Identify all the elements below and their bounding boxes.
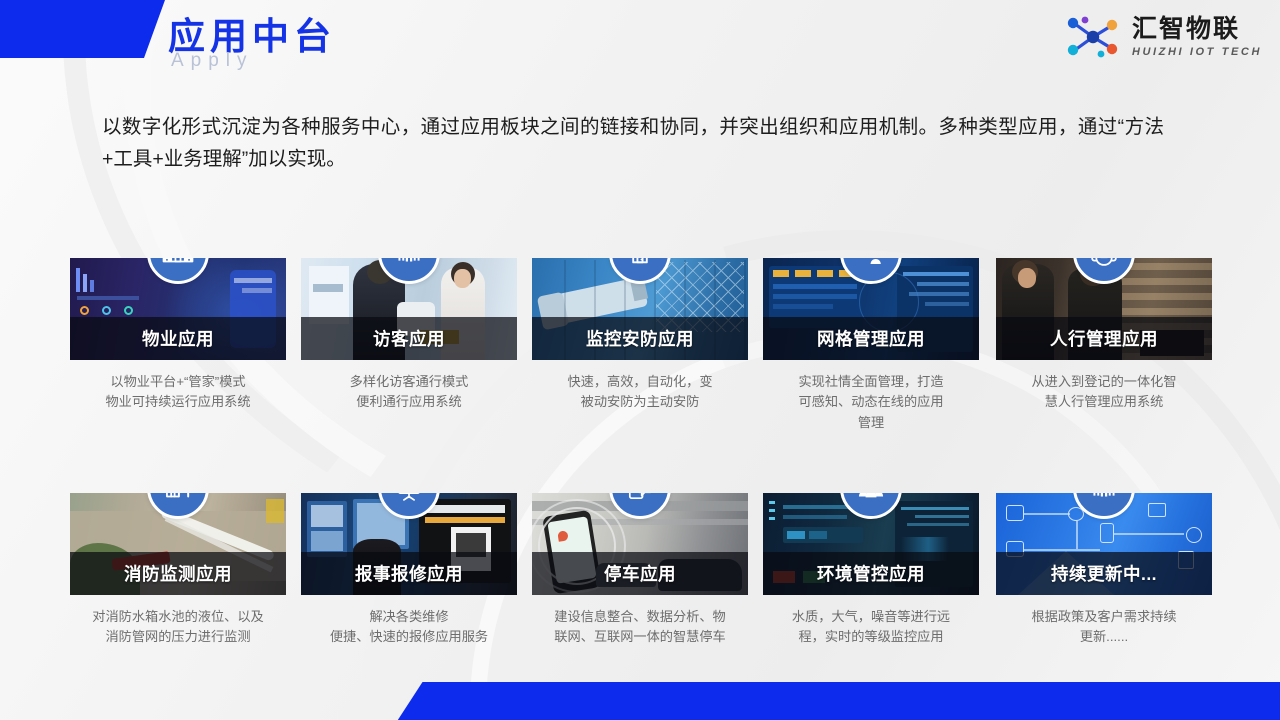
card-visual: 监控安防应用 — [532, 258, 748, 360]
card-title-band: 访客应用 — [301, 317, 517, 360]
card-description: 从进入到登记的一体化智 慧人行管理应用系统 — [996, 372, 1212, 413]
header-accent-bar — [0, 0, 165, 58]
card-visual: 访客应用 — [301, 258, 517, 360]
card-title: 环境管控应用 — [817, 561, 925, 586]
card-description: 对消防水箱水池的液位、以及 消防管网的压力进行监测 — [70, 607, 286, 648]
app-card-parking[interactable]: 停车应用 建设信息整合、数据分析、物 联网、互联网一体的智慧停车 — [532, 493, 748, 648]
card-description: 多样化访客通行模式 便利通行应用系统 — [301, 372, 517, 413]
card-title-band: 环境管控应用 — [763, 552, 979, 595]
brand-logo: 汇智物联 HUIZHI IOT TECH — [1063, 14, 1262, 60]
page-subtitle: Apply — [171, 50, 254, 72]
app-card-environment-control[interactable]: 环境管控应用 水质，大气，噪音等进行远 程，实时的等级监控应用 — [763, 493, 979, 648]
brand-name-en: HUIZHI IOT TECH — [1132, 47, 1262, 58]
brand-name-cn: 汇智物联 — [1132, 17, 1262, 42]
card-visual: 物业应用 — [70, 258, 286, 360]
card-title-band: 报事报修应用 — [301, 552, 517, 595]
app-card-pedestrian-management[interactable]: 人行管理应用 从进入到登记的一体化智 慧人行管理应用系统 — [996, 258, 1212, 413]
card-title: 网格管理应用 — [817, 326, 925, 351]
app-card-repair-request[interactable]: 报事报修应用 解决各类维修 便捷、快速的报修应用服务 — [301, 493, 517, 648]
card-title-band: 持续更新中... — [996, 552, 1212, 595]
card-description: 建设信息整合、数据分析、物 联网、互联网一体的智慧停车 — [532, 607, 748, 648]
card-title: 消防监测应用 — [124, 561, 232, 586]
card-visual: 网格管理应用 — [763, 258, 979, 360]
card-description: 根据政策及客户需求持续 更新...... — [996, 607, 1212, 648]
card-title-band: 消防监测应用 — [70, 552, 286, 595]
card-title: 物业应用 — [142, 326, 214, 351]
molecule-network-icon — [1063, 14, 1123, 60]
app-card-grid-management[interactable]: 网格管理应用 实现社情全面管理，打造 可感知、动态在线的应用 管理 — [763, 258, 979, 433]
card-title-band: 网格管理应用 — [763, 317, 979, 360]
app-card-fire-monitoring[interactable]: 消防监测应用 对消防水箱水池的液位、以及 消防管网的压力进行监测 — [70, 493, 286, 648]
card-description: 实现社情全面管理，打造 可感知、动态在线的应用 管理 — [763, 372, 979, 433]
card-title-band: 停车应用 — [532, 552, 748, 595]
card-visual: 持续更新中... — [996, 493, 1212, 595]
card-visual: 环境管控应用 — [763, 493, 979, 595]
card-title-band: 人行管理应用 — [996, 317, 1212, 360]
card-title: 持续更新中... — [1051, 561, 1157, 586]
card-description: 解决各类维修 便捷、快速的报修应用服务 — [301, 607, 517, 648]
card-visual: 停车应用 — [532, 493, 748, 595]
card-visual: 人行管理应用 — [996, 258, 1212, 360]
card-title: 访客应用 — [373, 326, 445, 351]
card-visual: 报事报修应用 — [301, 493, 517, 595]
card-title-band: 物业应用 — [70, 317, 286, 360]
card-description: 快速，高效，自动化，变 被动安防为主动安防 — [532, 372, 748, 413]
card-description: 以物业平台+“管家”模式 物业可持续运行应用系统 — [70, 372, 286, 413]
card-description: 水质，大气，噪音等进行远 程，实时的等级监控应用 — [763, 607, 979, 648]
app-card-surveillance[interactable]: 监控安防应用 快速，高效，自动化，变 被动安防为主动安防 — [532, 258, 748, 413]
card-title: 监控安防应用 — [586, 326, 694, 351]
card-title-band: 监控安防应用 — [532, 317, 748, 360]
app-card-property[interactable]: 物业应用 以物业平台+“管家”模式 物业可持续运行应用系统 — [70, 258, 286, 413]
card-title: 报事报修应用 — [355, 561, 463, 586]
app-card-visitor[interactable]: 访客应用 多样化访客通行模式 便利通行应用系统 — [301, 258, 517, 413]
card-title: 人行管理应用 — [1050, 326, 1158, 351]
app-card-coming-soon[interactable]: 持续更新中... 根据政策及客户需求持续 更新...... — [996, 493, 1212, 648]
card-title: 停车应用 — [604, 561, 676, 586]
card-visual: 消防监测应用 — [70, 493, 286, 595]
intro-paragraph: 以数字化形式沉淀为各种服务中心，通过应用板块之间的链接和协同，并突出组织和应用机… — [102, 112, 1164, 175]
